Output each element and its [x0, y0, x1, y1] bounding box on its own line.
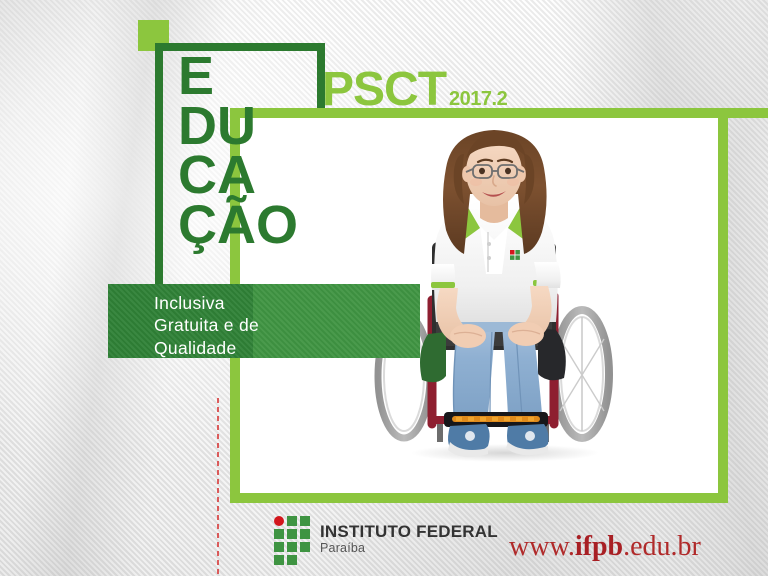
- tagline-text: Inclusiva Gratuita e de Qualidade: [154, 292, 259, 359]
- logo-cell: [300, 542, 310, 552]
- logo-cell: [274, 555, 284, 565]
- headline-line-4: ÇÃO: [178, 201, 298, 251]
- lime-bar-bottom: [230, 493, 728, 503]
- institution-campus: Paraíba: [320, 542, 498, 556]
- logo-cell: [287, 555, 297, 565]
- program-title-group: PSCT 2017.2: [322, 66, 507, 114]
- url-brand: ifpb: [575, 531, 623, 562]
- headline-educacao: E DU CA ÇÃO: [178, 52, 298, 251]
- tagline-line-2: Gratuita e de: [154, 314, 259, 336]
- tagline-line-3: Qualidade: [154, 337, 259, 359]
- tagline-banner: Inclusiva Gratuita e de Qualidade: [108, 284, 420, 358]
- lime-bar-right: [718, 118, 728, 503]
- institution-name: INSTITUTO FEDERAL: [320, 523, 498, 541]
- tagline-line-1: Inclusiva: [154, 292, 259, 314]
- logo-cell: [274, 542, 284, 552]
- website-url[interactable]: www.ifpb.edu.br: [509, 531, 701, 563]
- url-prefix: www.: [509, 531, 575, 562]
- headline-line-1: E: [178, 52, 298, 102]
- logo-cell: [287, 542, 297, 552]
- logo-cell: [300, 516, 310, 526]
- headline-line-3: CA: [178, 151, 298, 201]
- dashed-cut-guide-icon: [217, 398, 219, 576]
- url-suffix: .edu.br: [623, 531, 701, 562]
- ifpb-grid-icon: [274, 516, 310, 562]
- logo-cell: [287, 529, 297, 539]
- ifpb-logo-wordmark: INSTITUTO FEDERAL Paraíba: [320, 523, 498, 556]
- poster-canvas: PSCT 2017.2 E DU CA ÇÃO Inclusiva Gratui…: [0, 0, 768, 576]
- program-title: PSCT: [322, 66, 446, 114]
- logo-cell: [287, 516, 297, 526]
- program-year: 2017.2: [449, 89, 507, 109]
- logo-cell: [274, 529, 284, 539]
- logo-cell-red-dot: [274, 516, 284, 526]
- logo-cell-empty: [300, 555, 310, 565]
- logo-cell: [300, 529, 310, 539]
- ifpb-logo: INSTITUTO FEDERAL Paraíba: [274, 516, 498, 562]
- headline-line-2: DU: [178, 102, 298, 152]
